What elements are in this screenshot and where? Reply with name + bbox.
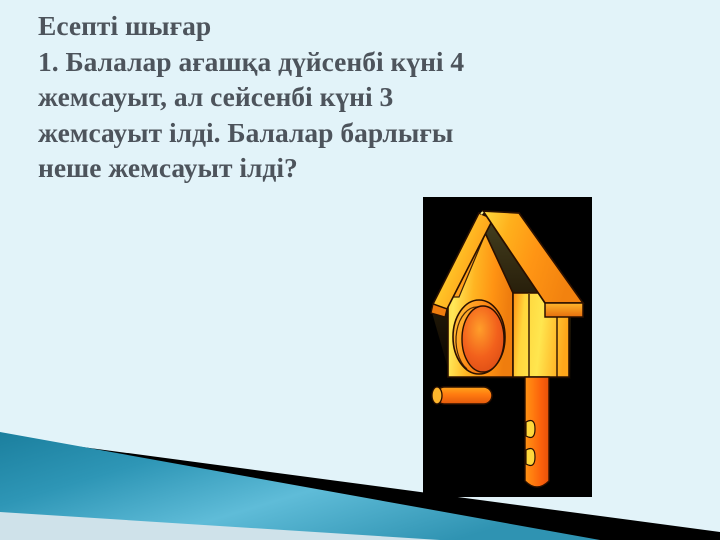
- corner-decoration-lower: [0, 420, 720, 540]
- pale-sliver: [0, 450, 440, 540]
- lower-pale-band: [0, 512, 440, 540]
- slide-text-block: Есепті шығар 1. Балалар ағашқа дүйсенбі …: [38, 8, 678, 186]
- birdhouse-image: [423, 197, 592, 497]
- birdhouse-entrance-hole: [453, 300, 505, 374]
- birdhouse-post: [525, 377, 549, 487]
- pale-wedge: [0, 444, 720, 540]
- text-line-5: неше жемсауыт ілді?: [38, 150, 678, 186]
- black-stripe: [0, 436, 720, 540]
- text-line-3: жемсауыт, ал сейсенбі күні 3: [38, 79, 678, 115]
- birdhouse-perch: [432, 387, 492, 404]
- text-line-2: 1. Балалар ағашқа дүйсенбі күні 4: [38, 44, 678, 80]
- text-line-4: жемсауыт ілді. Балалар барлығы: [38, 115, 678, 151]
- text-line-1: Есепті шығар: [38, 8, 678, 44]
- slide-canvas: Есепті шығар 1. Балалар ағашқа дүйсенбі …: [0, 0, 720, 540]
- corner-decoration: [0, 420, 720, 540]
- birdhouse-illustration: [423, 197, 592, 497]
